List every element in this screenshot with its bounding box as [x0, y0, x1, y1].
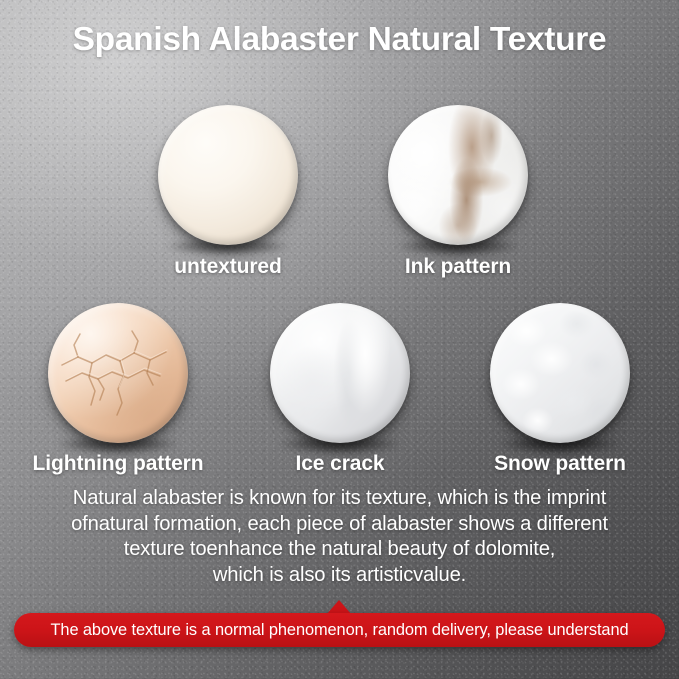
page-title: Spanish Alabaster Natural Texture — [0, 21, 679, 59]
texture-sample-untextured[interactable] — [158, 105, 298, 245]
texture-sample-snow-pattern[interactable] — [490, 303, 630, 443]
texture-sample-ice-crack[interactable] — [270, 303, 410, 443]
description-line-2: ofnatural formation, each piece of alaba… — [0, 512, 679, 538]
swatch-snow-pattern — [490, 303, 630, 443]
description-line-4: which is also its artisticvalue. — [0, 563, 679, 589]
description-paragraph: Natural alabaster is known for its textu… — [0, 486, 679, 588]
swatch-ice-crack — [270, 303, 410, 443]
swatch-untextured — [158, 105, 298, 245]
caption-lightning-pattern: Lightning pattern — [18, 452, 218, 476]
caption-ink-pattern: Ink pattern — [358, 255, 558, 279]
description-line-1: Natural alabaster is known for its textu… — [0, 486, 679, 512]
texture-sample-ink-pattern[interactable] — [388, 105, 528, 245]
texture-sample-lightning-pattern[interactable] — [48, 303, 188, 443]
crack-vein-overlay-icon — [48, 303, 188, 443]
notice-banner: The above texture is a normal phenomenon… — [14, 613, 665, 647]
caption-snow-pattern: Snow pattern — [460, 452, 660, 476]
notice-banner-text: The above texture is a normal phenomenon… — [51, 622, 629, 638]
infographic-page: Spanish Alabaster Natural Texture untext… — [0, 0, 679, 679]
description-line-3: texture toenhance the natural beauty of … — [0, 537, 679, 563]
caption-ice-crack: Ice crack — [240, 452, 440, 476]
swatch-ink-pattern — [388, 105, 528, 245]
caption-untextured: untextured — [128, 255, 328, 279]
